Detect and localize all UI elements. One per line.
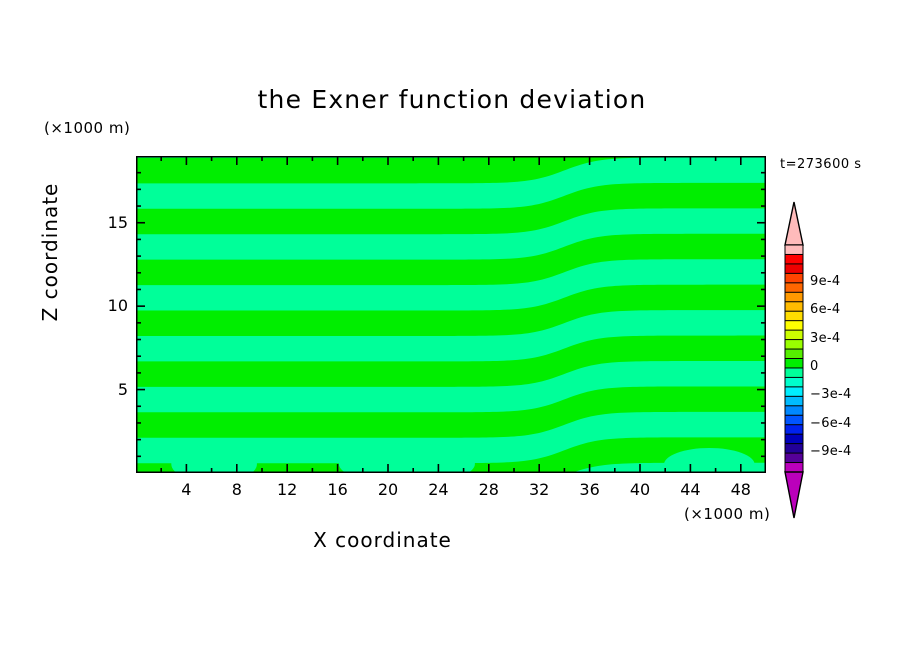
colorbar	[780, 200, 808, 520]
colorbar-tick-label: −6e-4	[810, 416, 852, 431]
x-axis-units: (×1000 m)	[684, 505, 770, 523]
y-tick-label: 10	[88, 296, 128, 315]
colorbar-tick-label: −9e-4	[810, 444, 852, 459]
x-tick-label: 20	[368, 480, 408, 499]
contour-field	[136, 156, 766, 473]
colorbar-tick-label: 9e-4	[810, 274, 840, 289]
contour-plot-area	[136, 156, 766, 473]
x-tick-label: 40	[620, 480, 660, 499]
x-axis-label: X coordinate	[0, 528, 765, 552]
y-tick-label: 5	[88, 380, 128, 399]
x-tick-label: 44	[670, 480, 710, 499]
x-tick-label: 16	[318, 480, 358, 499]
x-tick-label: 4	[166, 480, 206, 499]
colorbar-tick-label: −3e-4	[810, 387, 852, 402]
x-tick-label: 36	[570, 480, 610, 499]
colorbar-tick-label: 6e-4	[810, 302, 840, 317]
x-tick-label: 48	[721, 480, 761, 499]
colorbar-tick-label: 0	[810, 359, 819, 374]
x-tick-label: 8	[217, 480, 257, 499]
y-axis-label: Z coordinate	[38, 142, 62, 362]
y-axis-units: (×1000 m)	[44, 119, 130, 137]
timestamp-annotation: t=273600 s	[780, 157, 862, 172]
colorbar-tick-label: 3e-4	[810, 331, 840, 346]
colorbar-swatches	[780, 200, 808, 520]
x-tick-label: 28	[469, 480, 509, 499]
x-tick-label: 32	[519, 480, 559, 499]
y-tick-label: 15	[88, 213, 128, 232]
chart-title: the Exner function deviation	[0, 85, 904, 114]
x-tick-label: 12	[267, 480, 307, 499]
x-tick-label: 24	[418, 480, 458, 499]
